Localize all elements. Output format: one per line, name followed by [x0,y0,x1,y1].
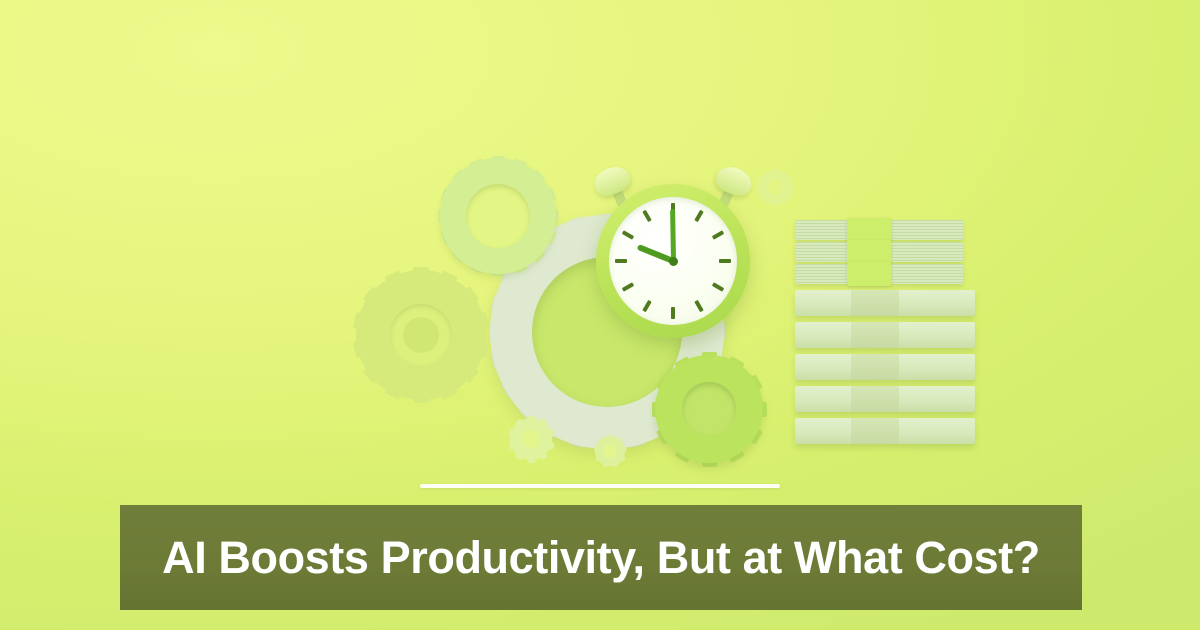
gear-faint-icon [758,170,792,204]
gear-left-icon [356,270,486,400]
gear-hole [390,304,452,366]
clock-tick [642,210,651,222]
gear-right-icon [655,355,763,463]
banknote-bundle [795,220,963,240]
banknote-band [847,218,891,242]
alarm-clock-icon [588,172,758,342]
clock-tick [671,307,675,319]
banknote-bundle [795,290,975,316]
banknote-band [847,240,891,264]
banknote-bundle [795,354,975,380]
gear-hole [604,445,617,458]
title-banner: AI Boosts Productivity, But at What Cost… [120,505,1082,610]
clock-tick [719,259,731,263]
clock-minute-hand [670,209,676,261]
clock-bell-left [590,162,633,200]
clock-tick [694,210,703,222]
gear-hole [682,382,736,436]
clock-tick [712,282,724,291]
banknote-bundle [795,264,963,284]
gear-top-left-icon [440,158,556,274]
clock-center-pin [669,257,678,266]
gear-hub [403,317,439,353]
gear-small-2-icon [595,436,625,466]
money-stack [795,220,975,450]
banknote-bundle [795,242,963,262]
clock-tick [694,300,703,312]
clock-tick [622,282,634,291]
gear-hole [522,430,541,449]
divider [420,484,780,488]
banknote-bundle [795,322,975,348]
gear-small-1-icon [510,418,552,460]
banknote-bundle [795,386,975,412]
banknote-bundle [795,418,975,444]
page-title: AI Boosts Productivity, But at What Cost… [162,535,1040,580]
clock-case [596,184,750,338]
banknote-band [851,290,899,316]
banknote-band [851,418,899,444]
hero-card: AI Boosts Productivity, But at What Cost… [0,0,1200,630]
clock-tick [622,230,634,239]
banknote-band [847,262,891,286]
banknote-band [851,354,899,380]
gear-hole [768,180,783,195]
clock-tick [642,300,651,312]
clock-tick [712,230,724,239]
banknote-band [851,322,899,348]
clock-tick [615,259,627,263]
hero-illustration [340,140,1020,490]
gear-hole [466,184,530,248]
banknote-band [851,386,899,412]
clock-bell-right [712,162,755,200]
clock-face [609,197,737,325]
